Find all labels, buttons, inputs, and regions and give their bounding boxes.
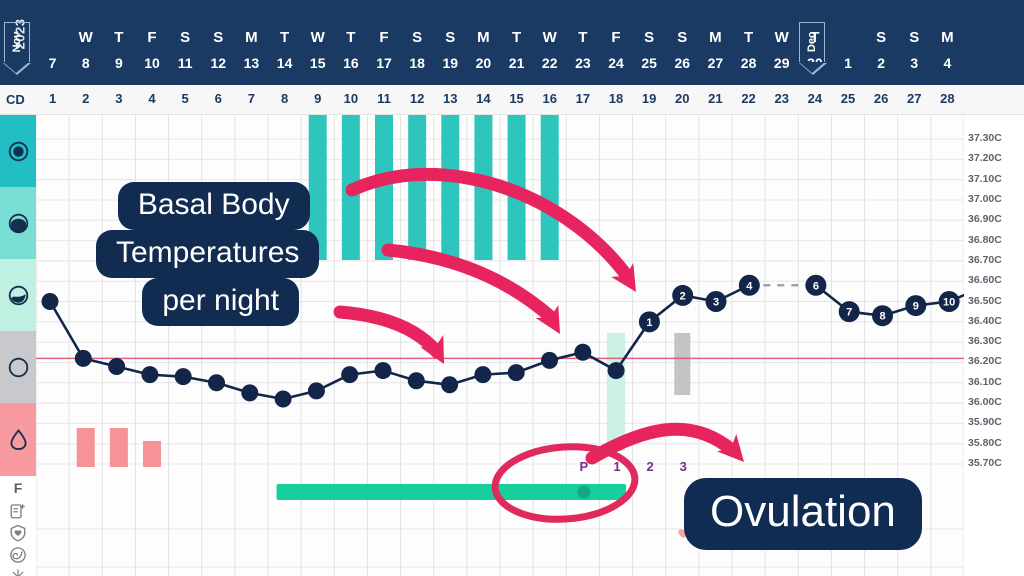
axis-tick: 36.80C	[968, 234, 1024, 246]
weekday-label: F	[135, 29, 168, 46]
cycle-day-cell[interactable]: 7	[235, 91, 268, 109]
header-day-cell[interactable]: S26	[666, 0, 699, 85]
date-label: 29	[765, 55, 798, 71]
dpo-label: 7	[846, 307, 852, 319]
weekday-label: T	[334, 29, 367, 46]
cycle-day-cell[interactable]: 13	[434, 91, 467, 109]
bbt-callout: Basal BodyTemperaturesper night	[108, 182, 319, 326]
phase-label: 3	[680, 459, 687, 474]
weekday-label: W	[765, 29, 798, 46]
cycle-day-cell[interactable]: 1	[36, 91, 69, 109]
temp-point[interactable]	[375, 362, 392, 379]
cycle-day-cell[interactable]: 20	[666, 91, 699, 109]
weekday-label: F	[367, 29, 400, 46]
date-label: 11	[169, 55, 202, 71]
mucus-bar[interactable]	[342, 115, 360, 260]
axis-tick: 36.50C	[968, 295, 1024, 307]
cycle-day-cell[interactable]: 28	[931, 91, 964, 109]
axis-tick: 36.40C	[968, 315, 1024, 327]
temp-point[interactable]	[208, 374, 225, 391]
opk-bar[interactable]	[674, 333, 690, 395]
header-day-cell[interactable]: W29	[765, 0, 798, 85]
weekday-label: T	[500, 29, 533, 46]
temp-point[interactable]	[75, 350, 92, 367]
header-day-cell[interactable]: 1	[831, 0, 864, 85]
header-day-cell[interactable]: T28	[732, 0, 765, 85]
sidebar-footer-icons: F	[0, 476, 36, 576]
mucus-band-menstruation[interactable]	[0, 403, 36, 476]
weekday-label: T	[566, 29, 599, 46]
temp-point[interactable]	[141, 366, 158, 383]
cycle-day-cell[interactable]: 12	[401, 91, 434, 109]
weekday-label: S	[169, 29, 202, 46]
spiral-icon[interactable]	[9, 546, 27, 564]
cycle-day-cell[interactable]: 9	[301, 91, 334, 109]
cycle-day-cell[interactable]: 16	[533, 91, 566, 109]
date-label: 23	[566, 55, 599, 71]
temp-point[interactable]	[108, 358, 125, 375]
fertility-f-label: F	[0, 480, 36, 496]
weekday-label: W	[69, 29, 102, 46]
temp-point[interactable]	[175, 368, 192, 385]
cycle-day-cell[interactable]: 21	[699, 91, 732, 109]
phase-label: 2	[647, 459, 654, 474]
axis-tick: 36.10C	[968, 376, 1024, 388]
header-day-cell[interactable]: S3	[898, 0, 931, 85]
dpo-label: 2	[680, 290, 686, 302]
date-label: 20	[467, 55, 500, 71]
weekday-label: S	[898, 29, 931, 46]
header-day-cell[interactable]: S11	[169, 0, 202, 85]
date-label: 4	[931, 55, 964, 71]
cycle-day-cell[interactable]: 18	[599, 91, 632, 109]
calendar-header: 2023 7W8T9F10S11S12M13T14W15T16F17S18S19…	[0, 0, 1024, 85]
ovulation-marker[interactable]	[577, 486, 590, 499]
axis-tick: 37.00C	[968, 193, 1024, 205]
mucus-band-cervical-mucus-sticky[interactable]	[0, 259, 36, 331]
header-day-cell[interactable]: F10	[135, 0, 168, 85]
axis-tick: 35.90C	[968, 416, 1024, 428]
weekday-label: M	[467, 29, 500, 46]
weekday-label: M	[235, 29, 268, 46]
mucus-bar[interactable]	[408, 115, 426, 260]
mucus-band-cervical-mucus-eggwhite[interactable]	[0, 115, 36, 187]
weekday-label: T	[268, 29, 301, 46]
axis-tick: 36.30C	[968, 335, 1024, 347]
note-add-icon[interactable]	[9, 502, 27, 520]
axis-tick: 35.70C	[968, 457, 1024, 469]
cycle-day-cell[interactable]: 24	[798, 91, 831, 109]
header-day-cell[interactable]: M20	[467, 0, 500, 85]
cycle-day-cell[interactable]: 6	[202, 91, 235, 109]
header-day-cell[interactable]: 7	[36, 0, 69, 85]
date-label: 19	[434, 55, 467, 71]
header-day-cell[interactable]: W22	[533, 0, 566, 85]
dpo-label: 1	[646, 317, 652, 329]
weekday-label: W	[533, 29, 566, 46]
mucus-band-cervical-mucus-creamy[interactable]	[0, 187, 36, 259]
header-day-cell[interactable]: T21	[500, 0, 533, 85]
mucus-bar[interactable]	[474, 115, 492, 260]
weekday-label: W	[301, 29, 334, 46]
weekday-label: F	[599, 29, 632, 46]
date-label: 15	[301, 55, 334, 71]
mucus-bar[interactable]	[508, 115, 526, 260]
cycle-day-cell[interactable]: 5	[169, 91, 202, 109]
dpo-label: 9	[913, 301, 919, 313]
date-label: 22	[533, 55, 566, 71]
temp-point[interactable]	[241, 384, 258, 401]
weekday-label: M	[699, 29, 732, 46]
date-label: 28	[732, 55, 765, 71]
temp-point[interactable]	[275, 391, 292, 408]
cycle-day-cell[interactable]: 4	[135, 91, 168, 109]
temp-point[interactable]	[574, 344, 591, 361]
header-day-cell[interactable]: S18	[401, 0, 434, 85]
header-day-cell[interactable]: M13	[235, 0, 268, 85]
date-label: 7	[36, 55, 69, 71]
temp-point[interactable]	[308, 382, 325, 399]
cycle-day-cell[interactable]: 10	[334, 91, 367, 109]
header-day-cell[interactable]: T23	[566, 0, 599, 85]
header-day-cell[interactable]: S25	[633, 0, 666, 85]
temp-point[interactable]	[441, 376, 458, 393]
header-day-cell[interactable]: M4	[931, 0, 964, 85]
temp-point[interactable]	[474, 366, 491, 383]
cycle-day-cell[interactable]: 14	[467, 91, 500, 109]
bbt-callout-line: per night	[142, 278, 299, 326]
mucus-band-cervical-mucus-dry[interactable]	[0, 331, 36, 403]
dpo-label: 10	[943, 297, 955, 309]
mucus-bar-light[interactable]	[607, 333, 625, 451]
cycle-day-cell[interactable]: 2	[69, 91, 102, 109]
flower-icon[interactable]	[9, 568, 27, 576]
axis-tick: 36.00C	[968, 396, 1024, 408]
month-label: Nov	[11, 22, 23, 62]
dpo-label: 3	[713, 297, 719, 309]
axis-tick: 36.70C	[968, 254, 1024, 266]
header-day-cell[interactable]: S12	[202, 0, 235, 85]
cycle-day-cell[interactable]: 26	[865, 91, 898, 109]
header-day-cell[interactable]: S2	[865, 0, 898, 85]
temp-point[interactable]	[341, 366, 358, 383]
date-label: 13	[235, 55, 268, 71]
weekday-label: S	[633, 29, 666, 46]
period-bar[interactable]	[143, 441, 161, 467]
dpo-label: 8	[879, 311, 885, 323]
month-ribbon: Dec	[799, 22, 825, 62]
month-label: Dec	[806, 22, 818, 62]
date-label: 10	[135, 55, 168, 71]
mucus-bar[interactable]	[375, 115, 393, 260]
cycle-day-cell[interactable]: 27	[898, 91, 931, 109]
axis-tick: 37.30C	[968, 132, 1024, 144]
date-label: 2	[865, 55, 898, 71]
temp-point[interactable]	[42, 293, 59, 310]
header-day-cell[interactable]: M27	[699, 0, 732, 85]
cycle-day-cell[interactable]: 11	[367, 91, 400, 109]
dpo-label: 4	[746, 280, 753, 292]
weekday-label: S	[202, 29, 235, 46]
header-day-cell[interactable]: T9	[102, 0, 135, 85]
axis-tick: 35.80C	[968, 437, 1024, 449]
header-day-cell[interactable]: F17	[367, 0, 400, 85]
ovulation-callout: Ovulation	[684, 478, 922, 550]
cycle-day-cell[interactable]: 17	[566, 91, 599, 109]
cycle-day-row: CD 1234567891011121314151617181920212223…	[0, 85, 1024, 115]
date-label: 17	[367, 55, 400, 71]
cycle-day-cell[interactable]: 23	[765, 91, 798, 109]
date-label: 9	[102, 55, 135, 71]
header-day-cell[interactable]: W8	[69, 0, 102, 85]
header-day-cell[interactable]: S19	[434, 0, 467, 85]
period-bar[interactable]	[110, 428, 128, 467]
bbt-callout-line: Temperatures	[96, 230, 319, 278]
mucus-half-icon	[7, 212, 30, 235]
temp-point[interactable]	[508, 364, 525, 381]
date-label: 14	[268, 55, 301, 71]
date-label: 3	[898, 55, 931, 71]
temp-point[interactable]	[541, 352, 558, 369]
header-day-cell[interactable]: W15	[301, 0, 334, 85]
fertile-window-bar[interactable]	[277, 484, 626, 500]
weekday-label: T	[102, 29, 135, 46]
mucus-low-icon	[7, 284, 30, 307]
temp-segment	[50, 302, 83, 359]
weekday-label: S	[401, 29, 434, 46]
header-day-cell[interactable]: F24	[599, 0, 632, 85]
axis-tick: 36.60C	[968, 274, 1024, 286]
date-label: 25	[633, 55, 666, 71]
weekday-label: T	[732, 29, 765, 46]
cycle-day-label: CD	[6, 92, 25, 107]
temp-point[interactable]	[408, 372, 425, 389]
temperature-axis: 37.30C37.20C37.10C37.00C36.90C36.80C36.7…	[964, 115, 1024, 576]
date-label: 1	[831, 55, 864, 71]
cycle-day-cell[interactable]: 19	[633, 91, 666, 109]
date-label: 12	[202, 55, 235, 71]
weekday-label: M	[931, 29, 964, 46]
header-day-cell[interactable]: T16	[334, 0, 367, 85]
dpo-label: 6	[813, 280, 819, 292]
phase-label: 1	[613, 459, 620, 474]
axis-tick: 36.20C	[968, 355, 1024, 367]
mucus-bar[interactable]	[441, 115, 459, 260]
blood-drop-icon	[7, 428, 30, 451]
period-bar[interactable]	[77, 428, 95, 467]
date-label: 27	[699, 55, 732, 71]
date-label: 24	[599, 55, 632, 71]
header-day-cell[interactable]: T14	[268, 0, 301, 85]
date-label: 16	[334, 55, 367, 71]
weekday-label: S	[434, 29, 467, 46]
date-label: 8	[69, 55, 102, 71]
shield-heart-icon[interactable]	[9, 524, 27, 542]
date-label: 21	[500, 55, 533, 71]
cycle-day-cell[interactable]: 25	[831, 91, 864, 109]
axis-tick: 37.10C	[968, 173, 1024, 185]
month-ribbon: Nov	[4, 22, 30, 62]
cycle-day-cell[interactable]: 8	[268, 91, 301, 109]
axis-tick: 37.20C	[968, 152, 1024, 164]
bbt-chart-screen: 2023 7W8T9F10S11S12M13T14W15T16F17S18S19…	[0, 0, 1024, 576]
mucus-full-icon	[7, 140, 30, 163]
cycle-day-cell[interactable]: 15	[500, 91, 533, 109]
bbt-callout-line: Basal Body	[118, 182, 310, 230]
phase-label: P	[580, 459, 589, 474]
date-label: 26	[666, 55, 699, 71]
axis-tick: 36.90C	[968, 213, 1024, 225]
weekday-label: S	[865, 29, 898, 46]
date-label: 18	[401, 55, 434, 71]
mucus-bar[interactable]	[541, 115, 559, 260]
weekday-label: S	[666, 29, 699, 46]
temp-point[interactable]	[608, 362, 625, 379]
mucus-empty-icon	[7, 356, 30, 379]
cycle-day-cell[interactable]: 3	[102, 91, 135, 109]
cycle-day-cell[interactable]: 22	[732, 91, 765, 109]
